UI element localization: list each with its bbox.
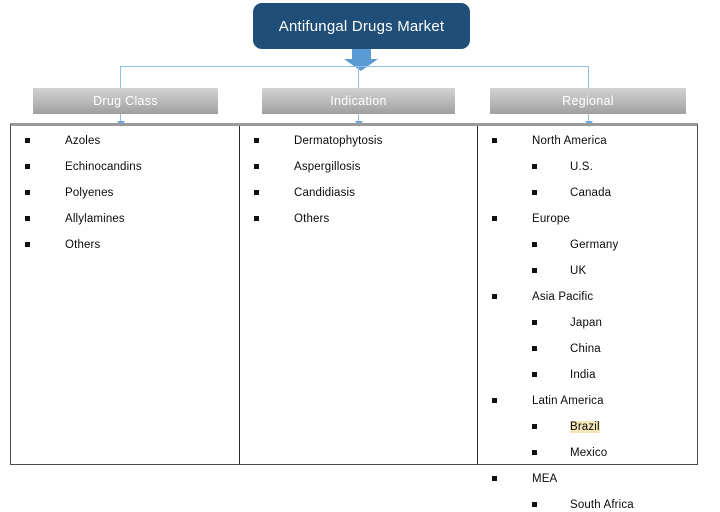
square-bullet-icon <box>492 216 497 221</box>
square-bullet-icon <box>25 190 30 195</box>
sub-list-item-label: South Africa <box>570 499 634 511</box>
square-bullet-icon <box>532 502 537 507</box>
list-item: Others <box>25 238 239 252</box>
sub-list-item-label: UK <box>570 265 586 277</box>
list-item-label: Aspergillosis <box>294 161 361 173</box>
connector-horizontal-bar <box>120 66 588 67</box>
connector-drop-drug-class <box>120 66 121 88</box>
sub-list-item: Germany <box>532 238 697 252</box>
root-arrow-head-icon <box>344 59 378 71</box>
sub-list-container: JapanChinaIndia <box>492 316 697 382</box>
square-bullet-icon <box>492 294 497 299</box>
square-bullet-icon <box>532 372 537 377</box>
sub-list-item: China <box>532 342 697 356</box>
list-item-label: Echinocandins <box>65 161 142 173</box>
list-item-label: Europe <box>532 213 570 225</box>
list-item-label: Others <box>294 213 329 225</box>
column-header-label: Indication <box>330 94 387 108</box>
sub-list: U.S.Canada <box>532 160 697 200</box>
root-node-antifungal-drugs-market: Antifungal Drugs Market <box>253 3 470 49</box>
sub-list: JapanChinaIndia <box>532 316 697 382</box>
sub-list: GermanyUK <box>532 238 697 278</box>
list-item: Echinocandins <box>25 160 239 174</box>
sub-list-container: U.S.Canada <box>492 160 697 200</box>
square-bullet-icon <box>532 190 537 195</box>
list-item: Europe <box>492 212 697 226</box>
sub-list-item-label: Brazil <box>570 421 600 433</box>
list-item: North America <box>492 134 697 148</box>
square-bullet-icon <box>532 346 537 351</box>
list-item-label: Others <box>65 239 100 251</box>
list-item-label: Latin America <box>532 395 604 407</box>
sub-list-item: Mexico <box>532 446 697 460</box>
square-bullet-icon <box>532 320 537 325</box>
list-item: Aspergillosis <box>254 160 477 174</box>
segment-column-regional: North AmericaU.S.CanadaEuropeGermanyUKAs… <box>478 126 697 464</box>
column-header-regional: Regional <box>490 88 686 114</box>
square-bullet-icon <box>25 164 30 169</box>
list-item: Allylamines <box>25 212 239 226</box>
square-bullet-icon <box>25 242 30 247</box>
square-bullet-icon <box>25 138 30 143</box>
square-bullet-icon <box>254 216 259 221</box>
square-bullet-icon <box>25 216 30 221</box>
list-item-label: Allylamines <box>65 213 125 225</box>
segment-column-drug-class: AzolesEchinocandinsPolyenesAllylaminesOt… <box>11 126 240 464</box>
list-item-label: North America <box>532 135 607 147</box>
square-bullet-icon <box>492 398 497 403</box>
sub-list-container: BrazilMexico <box>492 420 697 460</box>
sub-list-item: U.S. <box>532 160 697 174</box>
square-bullet-icon <box>254 190 259 195</box>
sub-list-item: Japan <box>532 316 697 330</box>
sub-list-item: India <box>532 368 697 382</box>
sub-list-item-label: Japan <box>570 317 602 329</box>
square-bullet-icon <box>254 138 259 143</box>
square-bullet-icon <box>532 450 537 455</box>
sub-list-container: South Africa <box>492 498 697 512</box>
segmentation-table: AzolesEchinocandinsPolyenesAllylaminesOt… <box>10 123 698 465</box>
list-item: Others <box>254 212 477 226</box>
segment-column-indication: DermatophytosisAspergillosisCandidiasisO… <box>240 126 478 464</box>
list-item-label: Azoles <box>65 135 100 147</box>
list-item: Candidiasis <box>254 186 477 200</box>
list-item-label: Asia Pacific <box>532 291 593 303</box>
square-bullet-icon <box>492 138 497 143</box>
segment-list-drug-class: AzolesEchinocandinsPolyenesAllylaminesOt… <box>25 134 239 252</box>
list-item-label: MEA <box>532 473 557 485</box>
list-item: Latin America <box>492 394 697 408</box>
sub-list-item-label: U.S. <box>570 161 593 173</box>
list-item-label: Polyenes <box>65 187 114 199</box>
connector-drop-regional <box>588 66 589 88</box>
sub-list: BrazilMexico <box>532 420 697 460</box>
list-item: Dermatophytosis <box>254 134 477 148</box>
list-item: Azoles <box>25 134 239 148</box>
list-item: Asia Pacific <box>492 290 697 304</box>
square-bullet-icon <box>532 268 537 273</box>
segment-list-regional: North AmericaU.S.CanadaEuropeGermanyUKAs… <box>492 134 697 512</box>
column-header-label: Drug Class <box>93 94 158 108</box>
sub-list-container: GermanyUK <box>492 238 697 278</box>
segment-list-indication: DermatophytosisAspergillosisCandidiasisO… <box>254 134 477 226</box>
column-header-indication: Indication <box>262 88 455 114</box>
square-bullet-icon <box>492 476 497 481</box>
root-node-label: Antifungal Drugs Market <box>279 16 445 37</box>
column-header-drug-class: Drug Class <box>33 88 218 114</box>
square-bullet-icon <box>532 164 537 169</box>
column-header-label: Regional <box>562 94 614 108</box>
list-item: Polyenes <box>25 186 239 200</box>
square-bullet-icon <box>254 164 259 169</box>
sub-list-item-label: Canada <box>570 187 611 199</box>
square-bullet-icon <box>532 242 537 247</box>
sub-list-item-label: China <box>570 343 601 355</box>
list-item-label: Candidiasis <box>294 187 355 199</box>
sub-list-item: Canada <box>532 186 697 200</box>
sub-list-item-label: India <box>570 369 596 381</box>
sub-list-item: Brazil <box>532 420 697 434</box>
square-bullet-icon <box>532 424 537 429</box>
list-item: MEA <box>492 472 697 486</box>
sub-list-item-label: Germany <box>570 239 618 251</box>
sub-list-item: South Africa <box>532 498 697 512</box>
sub-list-item-label: Mexico <box>570 447 607 459</box>
sub-list: South Africa <box>532 498 697 512</box>
sub-list-item: UK <box>532 264 697 278</box>
list-item-label: Dermatophytosis <box>294 135 383 147</box>
